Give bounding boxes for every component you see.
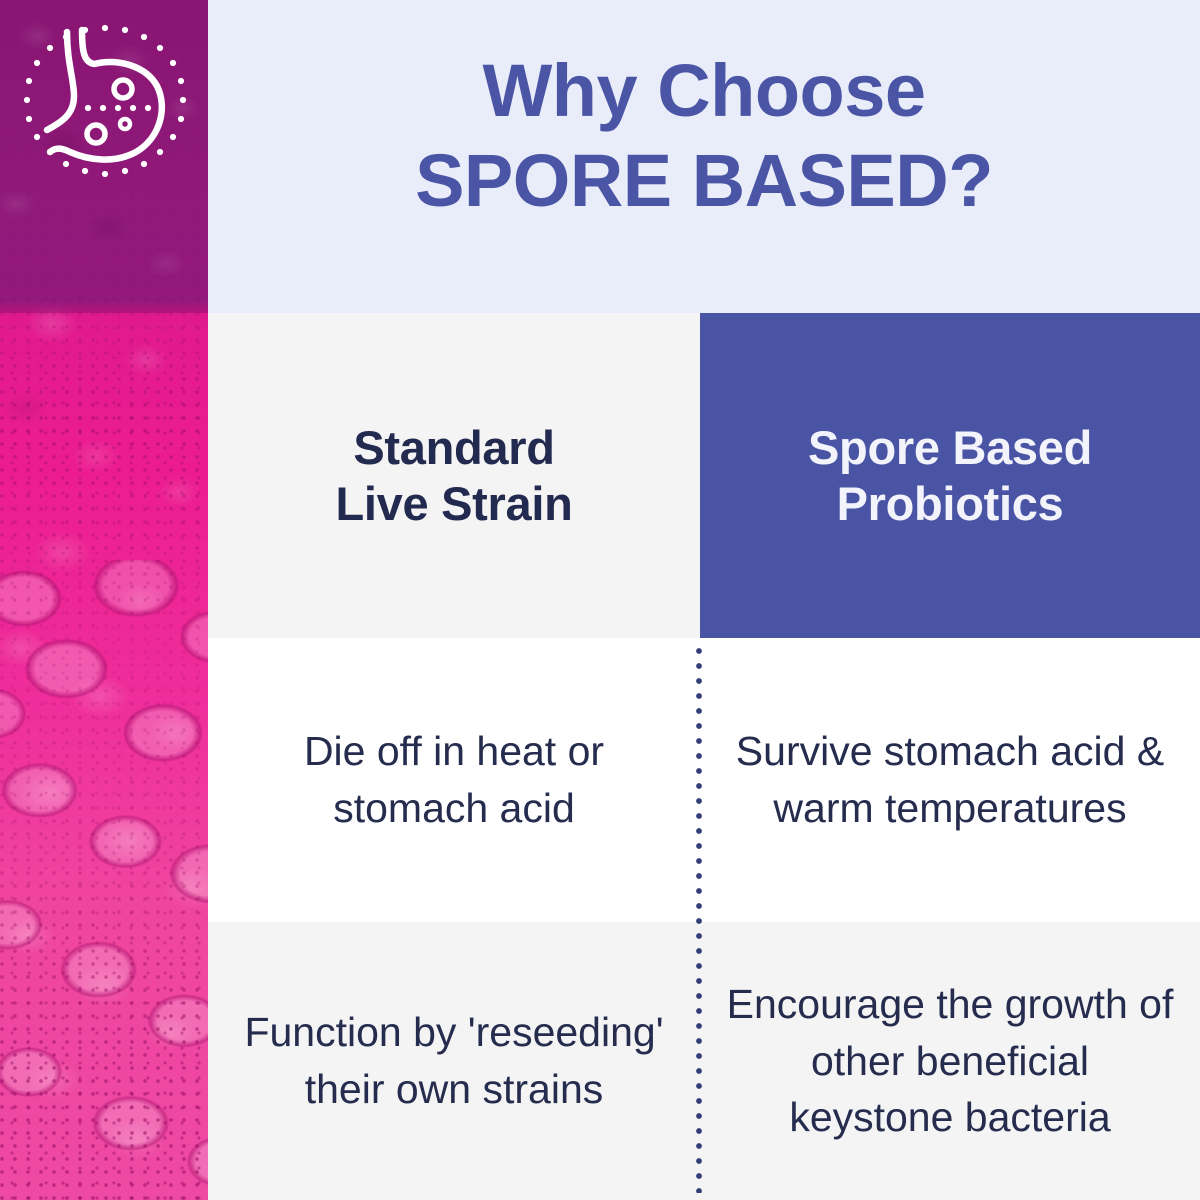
cell-text: Encourage the growth of other beneficial… xyxy=(724,976,1176,1146)
column-header-standard-live-strain: Standard Live Strain xyxy=(208,313,700,638)
cell-text: Function by 'reseeding' their own strain… xyxy=(232,1004,676,1117)
cell-text: Survive stomach acid & warm temperatures xyxy=(724,723,1176,836)
column-dotted-divider xyxy=(696,648,702,1193)
comparison-column-headers: Standard Live Strain Spore Based Probiot… xyxy=(208,313,1200,638)
column-header-standard-label: Standard Live Strain xyxy=(335,420,572,531)
page-title-line2: SPORE BASED? xyxy=(208,136,1200,226)
page-title: Why Choose SPORE BASED? xyxy=(208,46,1200,227)
cell-standard-row1: Die off in heat or stomach acid xyxy=(208,638,700,922)
cell-texture-panel xyxy=(0,0,208,1200)
column-header-spore-line2: Probiotics xyxy=(837,477,1064,530)
cell-spore-row2: Encourage the growth of other beneficial… xyxy=(700,922,1200,1200)
cell-text: Die off in heat or stomach acid xyxy=(232,723,676,836)
comparison-rows: Die off in heat or stomach acid Survive … xyxy=(208,638,1200,1200)
stomach-outline-icon xyxy=(18,18,192,192)
table-row: Function by 'reseeding' their own strain… xyxy=(208,922,1200,1200)
page-title-line1: Why Choose xyxy=(482,49,925,132)
cell-standard-row2: Function by 'reseeding' their own strain… xyxy=(208,922,700,1200)
column-header-spore-based-probiotics: Spore Based Probiotics xyxy=(700,313,1200,638)
column-header-standard-line1: Standard xyxy=(353,421,554,474)
column-header-spore-line1: Spore Based xyxy=(808,421,1092,474)
column-header-standard-line2: Live Strain xyxy=(335,477,572,530)
table-row: Die off in heat or stomach acid Survive … xyxy=(208,638,1200,922)
column-header-spore-label: Spore Based Probiotics xyxy=(808,420,1092,531)
cell-spore-row1: Survive stomach acid & warm temperatures xyxy=(700,638,1200,922)
infographic-canvas: Why Choose SPORE BASED? Standard Live St… xyxy=(0,0,1200,1200)
header-band: Why Choose SPORE BASED? xyxy=(208,0,1200,313)
